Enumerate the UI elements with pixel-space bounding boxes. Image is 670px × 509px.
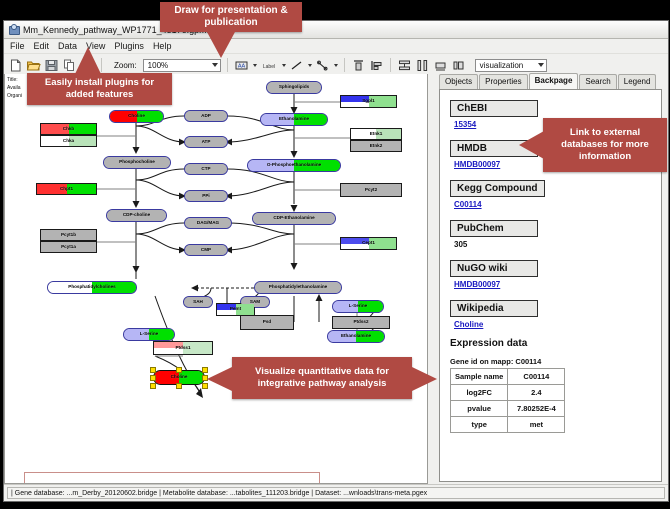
metabolite-node-sah[interactable]: SAH — [183, 296, 213, 308]
toolbar-separator-1 — [101, 58, 102, 72]
tab-search[interactable]: Search — [579, 74, 616, 89]
line-icon[interactable] — [289, 58, 304, 73]
table-row: type met — [451, 417, 565, 433]
gene-node-pemt[interactable]: Pemt — [216, 303, 255, 316]
menu-plugins[interactable]: Plugins — [114, 41, 144, 51]
screenshot-root: Mm_Kennedy_pathway_WP1771_45176.gpml Fil… — [0, 0, 670, 509]
open-folder-icon[interactable] — [26, 58, 41, 73]
svg-text:AA: AA — [238, 63, 246, 69]
tab-backpage[interactable]: Backpage — [529, 73, 579, 89]
save-icon[interactable] — [44, 58, 59, 73]
menu-edit[interactable]: Edit — [34, 41, 50, 51]
selection-handle-n[interactable] — [176, 367, 182, 373]
zoom-value: 100% — [148, 61, 168, 70]
menu-file[interactable]: File — [10, 41, 25, 51]
expression-table: Sample name C00114 log2FC 2.4 pvalue 7.8… — [450, 368, 565, 433]
table-row: pvalue 7.80252E-4 — [451, 401, 565, 417]
status-bar-text: | Gene database: ...m_Derby_20120602.bri… — [7, 487, 665, 499]
metabolite-node-l-serine-left[interactable]: L-Serine — [123, 328, 175, 341]
visualization-value: visualization — [480, 61, 524, 70]
selection-handle-sw[interactable] — [150, 383, 156, 389]
distribute-horizontal-icon[interactable] — [415, 58, 430, 73]
expr-value-sample-name: C00114 — [508, 369, 565, 385]
zoom-label: Zoom: — [114, 61, 137, 70]
db-header-chebi: ChEBI — [450, 100, 538, 117]
metabolite-node-ppi[interactable]: PPi — [184, 190, 228, 202]
tab-objects[interactable]: Objects — [439, 74, 478, 89]
svg-text:Label: Label — [263, 64, 275, 70]
callout-link-external-databases: Link to external databases for more info… — [543, 118, 667, 172]
align-left-icon[interactable] — [369, 58, 384, 73]
db-value-pubchem: 305 — [454, 240, 661, 249]
callout-visualize-text: Visualize quantitative data for integrat… — [236, 366, 408, 390]
gene-node-ptdss2[interactable]: Ptdss2 — [332, 316, 390, 329]
callout-plugins-arrow — [75, 47, 101, 74]
new-file-icon[interactable] — [8, 58, 23, 73]
distribute-vertical-icon[interactable] — [397, 58, 412, 73]
metabolite-node-adp[interactable]: ADP — [184, 110, 228, 122]
callout-plugins-text: Easily install plugins for added feature… — [31, 77, 168, 101]
callout-draw-text: Draw for presentation & publication — [164, 5, 298, 30]
table-row: log2FC 2.4 — [451, 385, 565, 401]
metabolite-node-ethanolamine-bottom[interactable]: Ethanolamine — [327, 330, 385, 343]
toolbar-separator-3 — [344, 58, 345, 72]
metabolite-node-cdp-ethanolamine[interactable]: CDP-Ethanolamine — [252, 212, 336, 225]
selection-handle-w[interactable] — [150, 375, 156, 381]
pathvisio-app-icon — [8, 24, 19, 35]
tab-properties[interactable]: Properties — [479, 74, 527, 89]
tab-legend[interactable]: Legend — [618, 74, 657, 89]
toolbar-separator-4 — [390, 58, 391, 72]
expr-value-type: met — [508, 417, 565, 433]
chevron-down-icon — [212, 63, 218, 67]
db-header-kegg-compound: Kegg Compound — [450, 180, 545, 197]
gene-node-pcyt2[interactable]: Pcyt2 — [340, 183, 402, 197]
chevron-down-icon — [538, 63, 544, 67]
metabolite-node-phosphocholine[interactable]: Phosphocholine — [103, 156, 171, 169]
metabolite-node-phosphatidylethanolamine[interactable]: Phosphatidylethanolamine — [254, 281, 342, 294]
menu-help[interactable]: Help — [153, 41, 172, 51]
datanode-icon[interactable]: AA — [234, 58, 249, 73]
db-link-kegg-compound[interactable]: C00114 — [454, 200, 661, 209]
stack-icon[interactable] — [433, 58, 448, 73]
gene-node-sgpl1[interactable]: Sgpl1 — [340, 95, 397, 108]
gene-node-pcyt1a[interactable]: Pcyt1a — [40, 241, 97, 253]
metabolite-node-o-phosphoethanolamine[interactable]: O-Phosphoethanolamine — [247, 159, 341, 172]
metabolite-node-dag-mag[interactable]: DAG/MAG — [184, 217, 232, 229]
callout-links-text: Link to external databases for more info… — [547, 127, 663, 163]
expr-label-pvalue: pvalue — [451, 401, 508, 417]
metabolite-node-cdp-choline[interactable]: CDP-choline — [106, 209, 167, 222]
label-dropdown-icon[interactable] — [282, 64, 286, 67]
db-header-wikipedia: Wikipedia — [450, 300, 538, 317]
visualization-combobox[interactable]: visualization — [475, 59, 547, 72]
metabolite-node-cmp[interactable]: CMP — [184, 244, 228, 256]
gene-node-cept1[interactable]: Cept1 — [340, 237, 397, 250]
zoom-combobox[interactable]: 100% — [143, 59, 221, 72]
callout-visualize-arrow-left — [207, 367, 232, 391]
status-bar: | Gene database: ...m_Derby_20120602.bri… — [4, 484, 668, 501]
selection-handle-nw[interactable] — [150, 367, 156, 373]
callout-visualize-arrow-right — [412, 367, 437, 391]
expr-value-log2fc: 2.4 — [508, 385, 565, 401]
table-row: Sample name C00114 — [451, 369, 565, 385]
line-dropdown-icon[interactable] — [308, 64, 312, 67]
db-header-nugo-wiki: NuGO wiki — [450, 260, 538, 277]
align-top-icon[interactable] — [351, 58, 366, 73]
gene-node-pcyt1b[interactable]: Pcyt1b — [40, 229, 97, 241]
expr-label-log2fc: log2FC — [451, 385, 508, 401]
menu-bar: File Edit Data View Plugins Help — [4, 39, 668, 54]
metabolite-node-choline-top[interactable]: Choline — [109, 110, 164, 123]
metabolite-node-phosphatidylcholines[interactable]: Phosphatidylcholines — [47, 281, 137, 294]
datanode-dropdown-icon[interactable] — [253, 64, 257, 67]
interaction-icon[interactable] — [315, 58, 330, 73]
expression-data-heading: Expression data — [450, 338, 661, 349]
common-width-icon[interactable] — [451, 58, 466, 73]
label-icon[interactable]: Label — [260, 58, 278, 73]
gene-node-psd[interactable]: Psd — [240, 315, 294, 330]
toolbar-separator-2 — [227, 58, 228, 72]
gene-node-etnk2[interactable]: Etnk2 — [350, 140, 402, 152]
callout-draw-for-presentation: Draw for presentation & publication — [160, 2, 302, 32]
db-link-nugo-wiki[interactable]: HMDB00097 — [454, 280, 661, 289]
interaction-dropdown-icon[interactable] — [334, 64, 338, 67]
selection-handle-s[interactable] — [176, 383, 182, 389]
expr-value-pvalue: 7.80252E-4 — [508, 401, 565, 417]
callout-links-arrow — [519, 131, 544, 159]
metabolite-node-sphingolipids[interactable]: Sphingolipids — [266, 81, 322, 94]
side-panel-tabs: Objects Properties Backpage Search Legen… — [431, 74, 668, 89]
pathway-canvas[interactable]: Title: Availa Organi — [4, 74, 428, 484]
metabolite-node-ethanolamine-top[interactable]: Ethanolamine — [260, 113, 328, 126]
metabolite-node-l-serine-right[interactable]: L-Serine — [332, 300, 384, 313]
metabolite-node-ctp[interactable]: CTP — [184, 163, 228, 175]
callout-share: Share on Wikipathways.org — [24, 472, 320, 484]
gene-id-on-mapp: Gene id on mapp: C00114 — [450, 357, 661, 366]
metabolite-node-atp[interactable]: ATP — [184, 136, 228, 148]
expr-label-type: type — [451, 417, 508, 433]
callout-draw-arrow — [207, 32, 235, 58]
gene-node-chka[interactable]: Chka — [40, 135, 97, 147]
gene-node-chkb[interactable]: Chkb — [40, 123, 97, 135]
title-bar: Mm_Kennedy_pathway_WP1771_45176.gpml — [4, 21, 668, 39]
gene-node-etnk1[interactable]: Etnk1 — [350, 128, 402, 140]
gene-node-ptdss1[interactable]: Ptdss1 — [153, 341, 213, 355]
expr-label-sample-name: Sample name — [451, 369, 508, 385]
gene-node-chpt1[interactable]: Chpt1 — [36, 183, 97, 195]
callout-easily-install-plugins: Easily install plugins for added feature… — [27, 73, 172, 105]
callout-visualize-quantitative-data: Visualize quantitative data for integrat… — [232, 357, 412, 399]
db-link-wikipedia[interactable]: Choline — [454, 320, 661, 329]
db-header-pubchem: PubChem — [450, 220, 538, 237]
